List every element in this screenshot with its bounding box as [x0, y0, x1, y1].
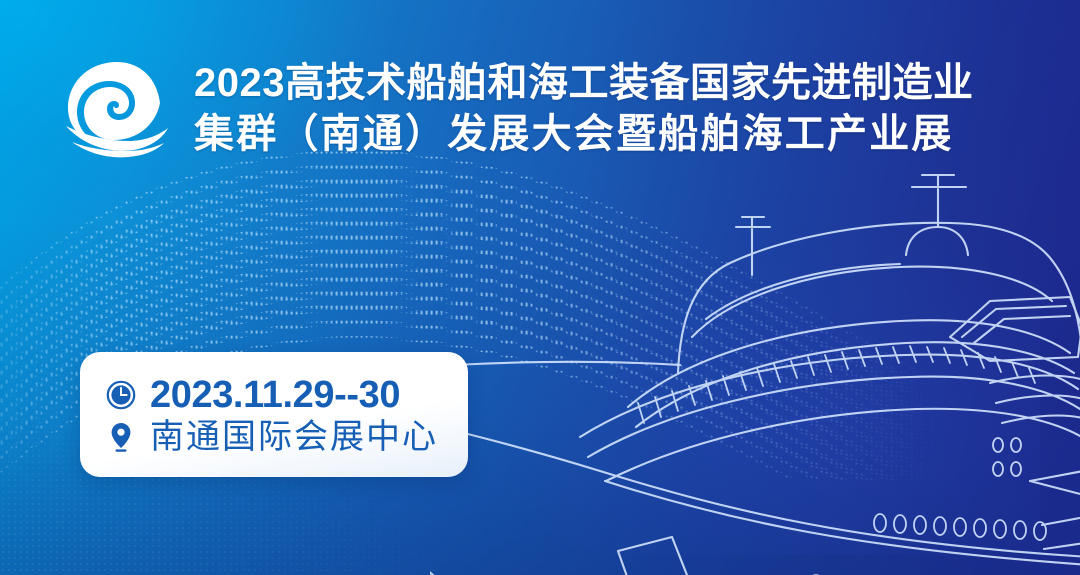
title-line-2: 集群（南通）发展大会暨船舶海工产业展	[194, 111, 973, 158]
event-info-card: 2023.11.29--30 南通国际会展中心	[80, 352, 468, 477]
date-row: 2023.11.29--30	[106, 376, 446, 414]
wave-spiral-logo-icon	[62, 56, 172, 162]
title-block: 2023高技术船舶和海工装备国家先进制造业 集群（南通）发展大会暨船舶海工产业展	[194, 60, 973, 158]
event-date: 2023.11.29--30	[150, 376, 400, 414]
title-line-1: 2023高技术船舶和海工装备国家先进制造业	[194, 60, 973, 107]
event-venue: 南通国际会展中心	[150, 420, 438, 454]
event-poster: 2023高技术船舶和海工装备国家先进制造业 集群（南通）发展大会暨船舶海工产业展…	[0, 0, 1080, 575]
cruise-ship-line-art	[430, 151, 1080, 575]
location-pin-icon	[106, 421, 136, 453]
clock-icon	[106, 379, 136, 411]
venue-row: 南通国际会展中心	[106, 420, 446, 454]
poster-header: 2023高技术船舶和海工装备国家先进制造业 集群（南通）发展大会暨船舶海工产业展	[62, 56, 973, 162]
